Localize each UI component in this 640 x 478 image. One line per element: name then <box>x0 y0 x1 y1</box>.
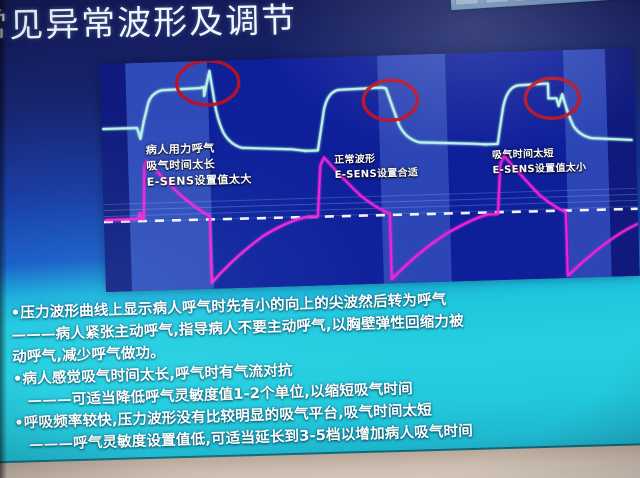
pressure-curve-panel-3 <box>484 81 632 144</box>
slide-body-text: •压力波形曲线上显示病人呼气时先有小的向上的尖波然后转为呼气 ———病人紧张主动… <box>11 283 632 456</box>
presentation-slide: A▲ A▼ 常见异常波形及调节 <box>0 0 640 478</box>
waveform-chart: 病人用力呼气 吸气时间太长 E-SENS设置值太大 正常波形 E-SENS设置合… <box>99 48 640 292</box>
slide-title: 常见异常波形及调节 <box>0 0 534 48</box>
flow-transition-panel-1 <box>210 213 212 283</box>
caption-line: E-SENS设置合适 <box>334 165 418 183</box>
photographed-slide-screenshot: A▲ A▼ 常见异常波形及调节 <box>0 0 640 478</box>
pressure-curve-panel-2 <box>304 84 486 150</box>
chart-caption-3: 吸气时间太短 E-SENS设置值太小 <box>492 145 587 178</box>
chart-caption-1: 病人用力呼气 吸气时间太长 E-SENS设置值太大 <box>146 140 253 191</box>
caption-line: E-SENS设置值太大 <box>147 172 253 191</box>
chart-caption-2: 正常波形 E-SENS设置合适 <box>334 150 418 183</box>
caption-line: E-SENS设置值太小 <box>492 160 586 178</box>
monitor-bezel-left <box>0 0 7 478</box>
